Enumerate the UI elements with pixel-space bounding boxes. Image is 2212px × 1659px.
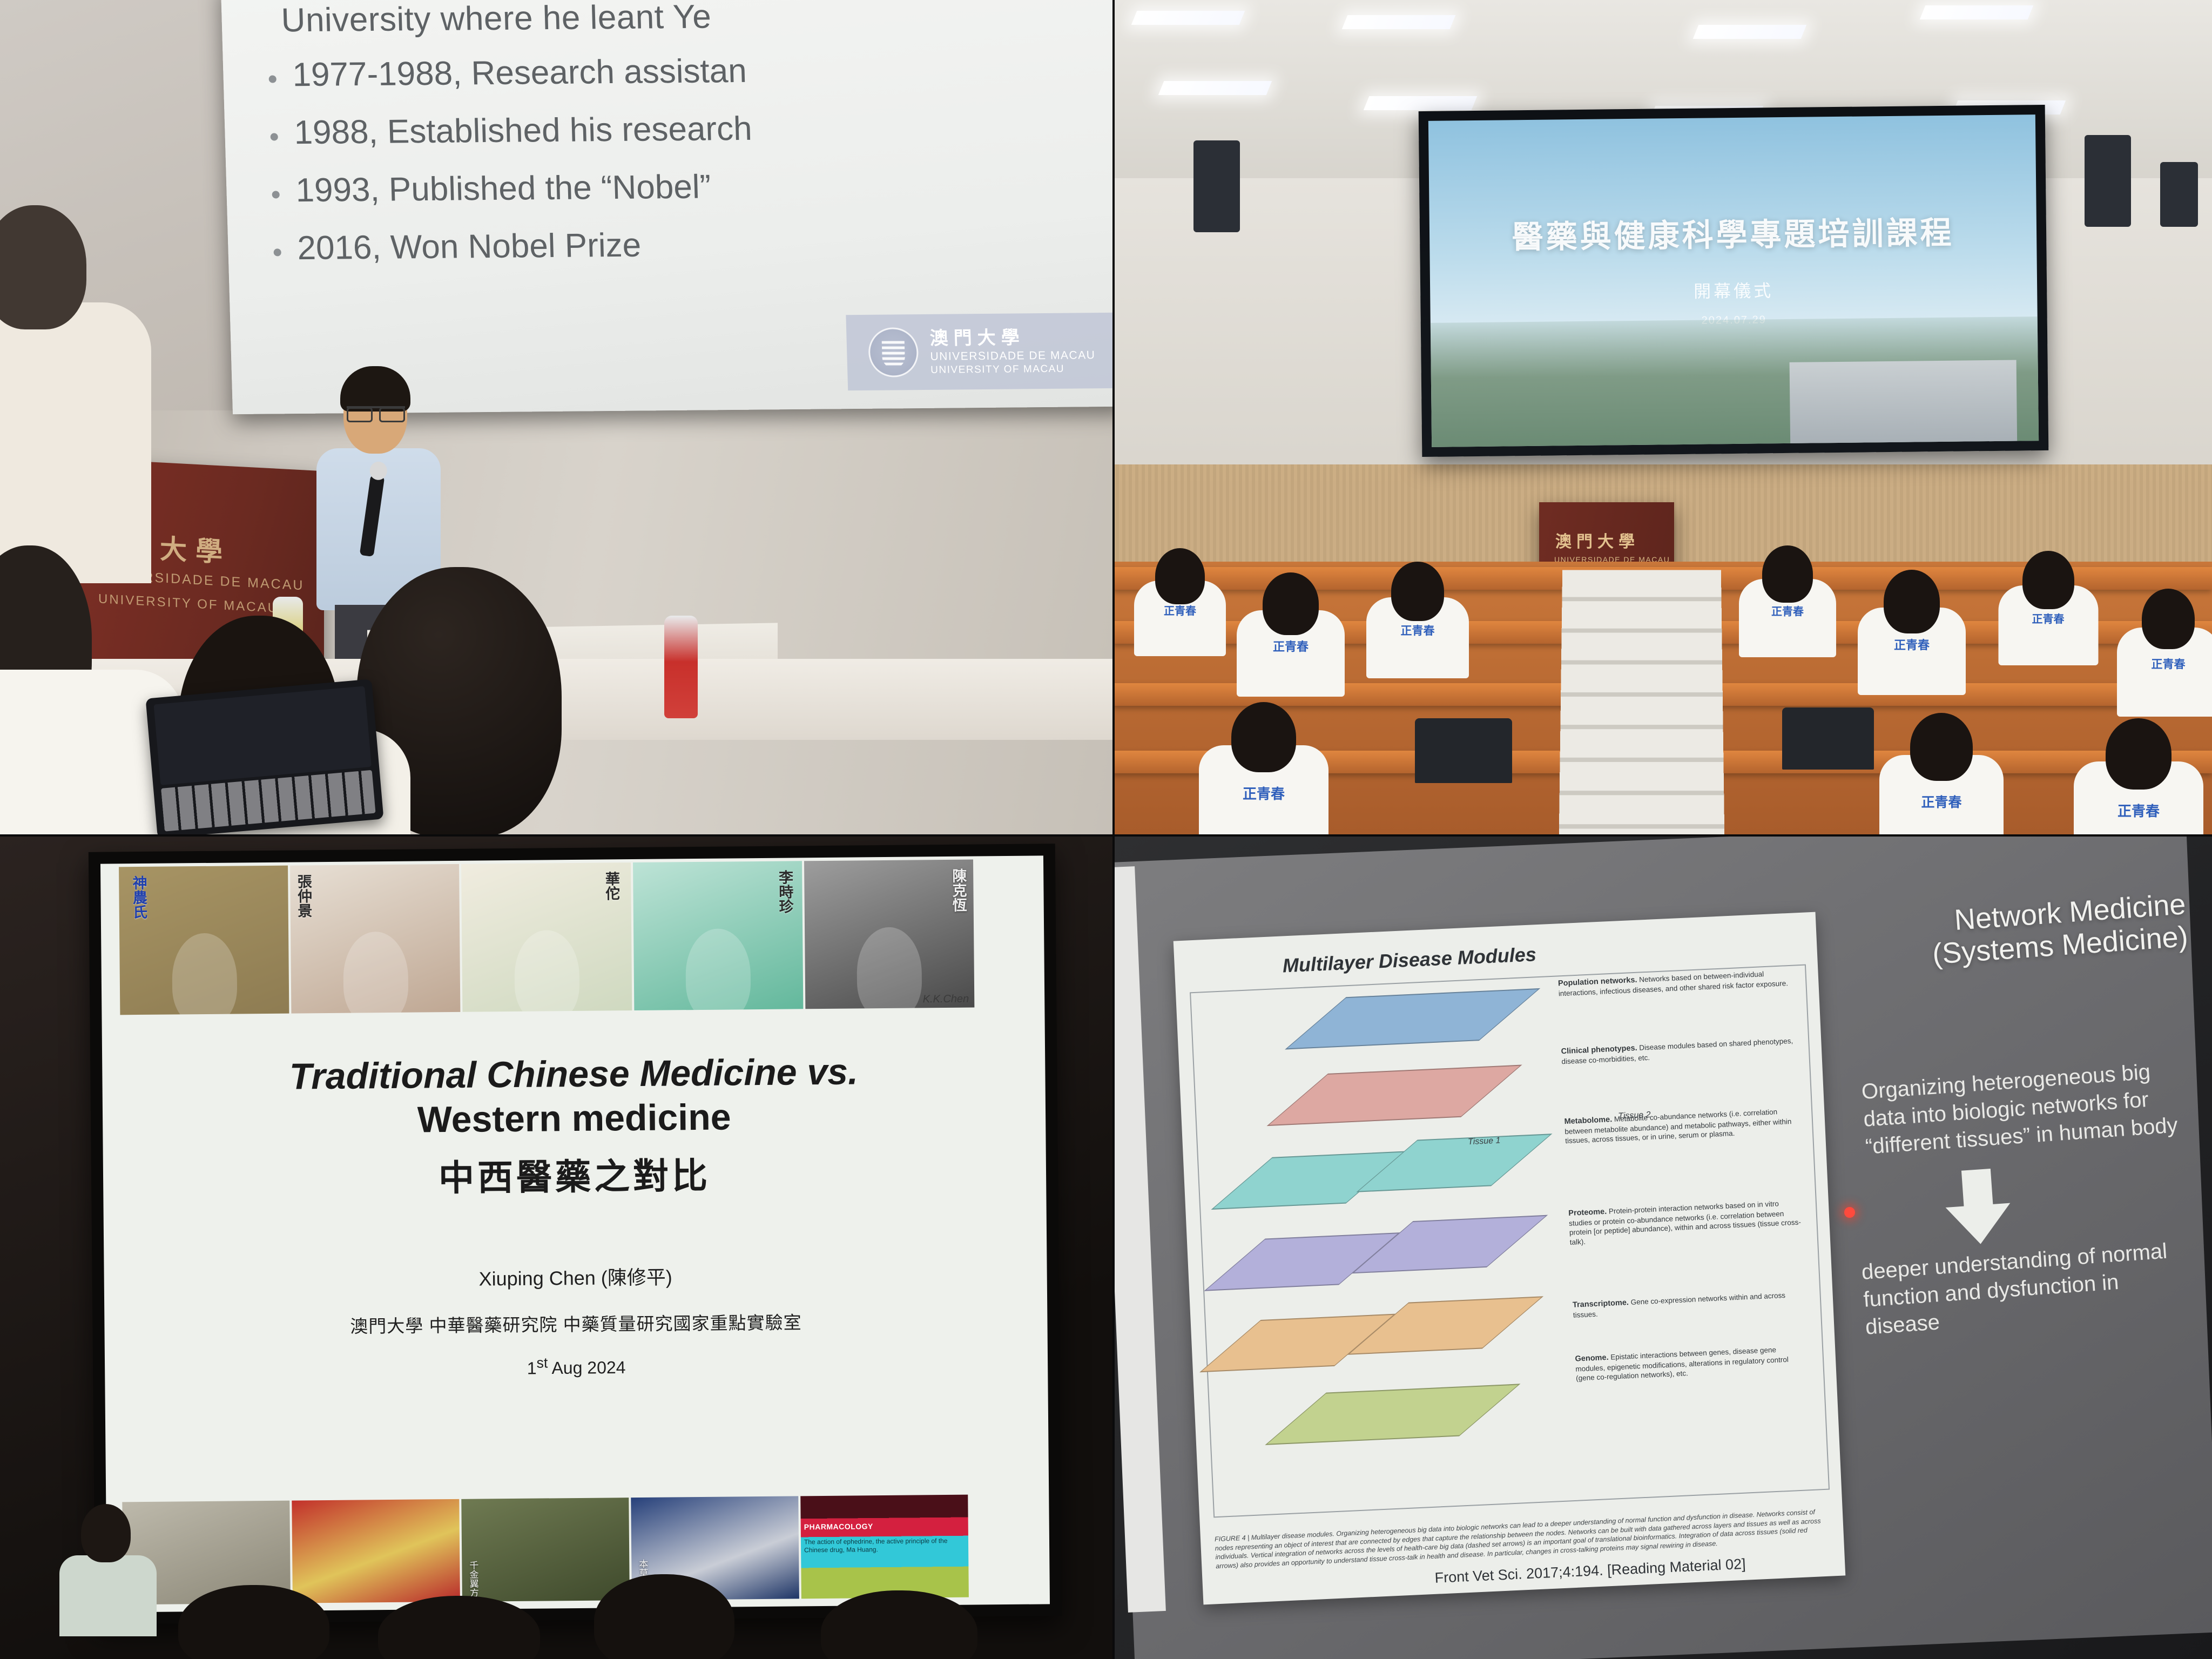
laser-pointer-dot-icon — [1844, 1207, 1855, 1218]
ceiling-speaker-icon — [1193, 140, 1240, 232]
title-line-1: Traditional Chinese Medicine vs. — [289, 1050, 859, 1097]
annotation-term: Proteome. — [1568, 1208, 1607, 1218]
title-vs: vs. — [807, 1051, 858, 1092]
tshirt-text: 正青春 — [1164, 602, 1196, 618]
ceiling-light — [1920, 5, 2034, 19]
tablet-with-keyboard — [145, 679, 383, 834]
student-head — [1231, 702, 1296, 772]
photo-collage: University where he leant Ye 1977-1988, … — [0, 0, 2212, 1659]
ceiling-speaker-icon — [2160, 162, 2198, 227]
annotation-genome: Genome. Epistatic interactions between g… — [1575, 1344, 1808, 1383]
portrait-label: 神農氏 — [131, 875, 146, 919]
student: 正青春 — [1199, 702, 1328, 834]
portrait-label: 張仲景 — [295, 874, 311, 918]
student: 正青春 — [1858, 570, 1966, 697]
projection-screen-bullets: University where he leant Ye 1977-1988, … — [221, 0, 1112, 414]
tshirt-text: 正青春 — [1243, 783, 1285, 803]
layer-clinical-phenotypes — [1267, 1065, 1522, 1127]
tshirt-text: 正青春 — [1273, 637, 1309, 655]
network-medicine-heading: Network Medicine (Systems Medicine) — [1862, 888, 2189, 975]
tablet-screen — [153, 686, 372, 785]
student-head — [1910, 713, 1973, 781]
audience-person-seated — [49, 1504, 162, 1634]
campus-photo-background — [1431, 316, 2039, 447]
glasses-icon — [347, 406, 405, 418]
projection-screen-tcm: 神農氏 張仲景 華佗 李時珍 — [89, 844, 1062, 1624]
student: 正青春 — [1366, 562, 1469, 680]
collage-divider-vertical — [1112, 0, 1115, 1659]
portrait-face — [685, 928, 751, 1010]
um-logo-text: 澳門大學 UNIVERSIDADE DE MACAU UNIVERSITY OF… — [929, 326, 1096, 376]
chair-back — [1415, 718, 1512, 783]
ceiling-light — [1342, 15, 1456, 29]
slide-top-line: University where he leant Ye — [281, 0, 1112, 39]
audience-head — [178, 1585, 329, 1659]
figure-citation: Front Vet Sci. 2017;4:194. [Reading Mate… — [1434, 1556, 1746, 1587]
slide-subtitle: 開幕儀式 — [1694, 277, 1773, 303]
ceiling-light — [1693, 25, 1807, 39]
author-name: Xiuping Chen (陳修平) — [349, 1260, 801, 1292]
network-medicine-body-2: deeper understanding of normal function … — [1860, 1236, 2189, 1341]
slide-bullet: 1988, Established his research — [262, 106, 1112, 152]
annotation-text: Metabolite co-abundance networks (i.e. c… — [1564, 1108, 1792, 1145]
student-head — [1391, 562, 1444, 621]
tissue-1-label: Tissue 1 — [1468, 1136, 1501, 1148]
portrait-signature: K.K.Chen — [923, 993, 969, 1006]
tshirt-text: 正青春 — [2117, 800, 2160, 820]
um-logo-bar: 澳門大學 UNIVERSIDADE DE MACAU UNIVERSITY OF… — [846, 313, 1112, 390]
network-medicine-text-column: Network Medicine (Systems Medicine) Orga… — [1863, 899, 2187, 1330]
podium-label-cn: 澳門大學 — [1555, 528, 1640, 552]
presentation-date: 1st Aug 2024 — [350, 1352, 802, 1380]
date-rest: Aug 2024 — [548, 1358, 625, 1378]
student: 正青春 — [2074, 718, 2203, 834]
layer-genome — [1265, 1384, 1520, 1445]
annotation-metabolome: Metabolome. Metabolite co-abundance netw… — [1564, 1107, 1797, 1146]
portrait-face — [343, 932, 408, 1014]
student: 正青春 — [1134, 548, 1226, 656]
tcm-slide-title: Traditional Chinese Medicine vs. Western… — [289, 1050, 859, 1202]
tshirt-text: 正青春 — [2152, 656, 2186, 672]
book-label: 千金翼方 — [466, 1561, 480, 1597]
person-body — [59, 1555, 157, 1636]
tshirt-text: 正青春 — [2032, 610, 2065, 626]
portrait-zhang-zhongjing: 張仲景 — [290, 864, 461, 1014]
student-head — [1155, 548, 1205, 604]
um-logo-en: UNIVERSITY OF MACAU — [930, 362, 1096, 376]
tcm-slide: 神農氏 張仲景 華佗 李時珍 — [100, 855, 1050, 1612]
student: 正青春 — [1739, 545, 1836, 659]
slide-bullet: 2016, Won Nobel Prize — [266, 222, 1112, 268]
podium-label-en: UNIVERSITY OF MACAU — [98, 591, 279, 616]
layer-population — [1285, 988, 1540, 1050]
tcm-slide-meta: Xiuping Chen (陳修平) 澳門大學 中華醫藥研究院 中藥質量研究國家… — [349, 1260, 802, 1380]
portrait-shennong: 神農氏 — [119, 866, 289, 1015]
title-en-2: Western medicine — [289, 1095, 859, 1142]
portrait-face — [857, 927, 922, 1009]
affiliation: 澳門大學 中華醫藥研究院 中藥質量研究國家重點實驗室 — [350, 1308, 802, 1338]
portrait-hua-tuo: 華佗 — [461, 862, 632, 1012]
portrait-kk-chen: 陳克恆 K.K.Chen — [804, 860, 975, 1009]
multilayer-figure: Multilayer Disease Modules Population ne… — [1174, 912, 1846, 1605]
person-head — [81, 1504, 131, 1562]
student: 正青春 — [1879, 713, 2004, 834]
annotation-term: Transcriptome. — [1573, 1298, 1629, 1310]
student-head — [1762, 545, 1813, 603]
journal-pharmacology-cover: PHARMACOLOGY The action of ephedrine, th… — [800, 1495, 969, 1599]
journal-title: PHARMACOLOGY — [804, 1521, 965, 1532]
chair-back — [1782, 707, 1874, 770]
audience-head — [594, 1574, 734, 1659]
tshirt-text: 正青春 — [1771, 603, 1804, 618]
date-ordinal: st — [536, 1354, 548, 1371]
student: 正青春 — [1237, 572, 1345, 697]
portrait-face — [172, 933, 237, 1015]
slide-bullet-list: 1977-1988, Research assistan 1988, Estab… — [261, 49, 1112, 268]
um-crest-icon — [868, 327, 919, 377]
ceiling-light — [1158, 81, 1272, 95]
panel-speaker-bullet-slide: University where he leant Ye 1977-1988, … — [0, 0, 1112, 834]
figure-plot-area: Population networks. Networks based on b… — [1190, 965, 1830, 1518]
student: 正青春 — [2117, 589, 2212, 718]
panel-tcm-title-slide: 神農氏 張仲景 華佗 李時珍 — [0, 834, 1112, 1659]
portrait-li-shizhen: 李時珍 — [633, 861, 804, 1010]
speaker-hair — [340, 366, 410, 412]
annotation-clinical: Clinical phenotypes. Disease modules bas… — [1561, 1036, 1793, 1067]
annotation-text: Epistatic interactions between genes, di… — [1575, 1346, 1789, 1382]
annotation-transcriptome: Transcriptome. Gene co-expression networ… — [1573, 1290, 1805, 1320]
tshirt-text: 正青春 — [1401, 622, 1435, 638]
annotation-term: Genome. — [1575, 1353, 1609, 1364]
date-day: 1 — [527, 1358, 537, 1378]
slide-bullet: 1977-1988, Research assistan — [261, 49, 1112, 95]
portrait-label: 華佗 — [603, 871, 619, 900]
annotation-text: Protein-protein interaction networks bas… — [1569, 1199, 1801, 1246]
student-head — [1263, 572, 1319, 635]
panel-lecture-hall: 醫藥與健康科學專題培訓課程 開幕儀式 2024.07.29 澳門大學 UNIVE… — [1112, 0, 2212, 834]
network-layers — [1201, 982, 1570, 1521]
tissue-2-label: Tissue 2 — [1618, 1110, 1651, 1122]
opening-ceremony-slide: 醫藥與健康科學專題培訓課程 開幕儀式 2024.07.29 — [1428, 114, 2039, 447]
student-head — [2142, 589, 2195, 649]
ceiling-light — [1131, 11, 1245, 25]
projection-screen-title: 醫藥與健康科學專題培訓課程 開幕儀式 2024.07.29 — [1419, 105, 2049, 457]
ceiling-speaker-icon — [2085, 135, 2131, 227]
tshirt-text: 正青春 — [1894, 636, 1930, 653]
aisle-stairs — [1559, 570, 1725, 834]
slide-title: 醫藥與健康科學專題培訓課程 — [1512, 207, 1954, 258]
panel-network-medicine-slide: Multilayer Disease Modules Population ne… — [1112, 834, 2212, 1659]
journal-article-caption: The action of ephedrine, the active prin… — [804, 1537, 965, 1555]
portrait-face — [514, 930, 579, 1012]
book-qianjinyifang: 千金翼方 — [461, 1498, 630, 1602]
collage-divider-horizontal — [0, 834, 2212, 837]
student-head — [2022, 551, 2074, 609]
student-head — [2106, 718, 2171, 790]
title-en-1: Traditional Chinese Medicine — [289, 1051, 797, 1097]
historical-figures-row: 神農氏 張仲景 華佗 李時珍 — [100, 855, 1044, 1015]
um-logo-pt: UNIVERSIDADE DE MACAU — [930, 349, 1095, 364]
title-cn: 中西醫藥之對比 — [290, 1145, 859, 1202]
slide-bullet: 1993, Published the “Nobel” — [264, 164, 1112, 210]
audience-torso — [0, 302, 151, 583]
annotation-population: Population networks. Networks based on b… — [1558, 968, 1791, 999]
ceiling-light — [1364, 96, 1478, 110]
portrait-label: 陳克恆 — [950, 868, 966, 912]
student: 正青春 — [1998, 551, 2098, 667]
annotation-proteome: Proteome. Protein-protein interaction ne… — [1568, 1198, 1802, 1247]
network-medicine-body-1: Organizing heterogeneous big data into b… — [1860, 1056, 2189, 1161]
book-cover — [292, 1499, 460, 1603]
um-logo-cn: 澳門大學 — [929, 326, 1095, 350]
student-head — [1884, 570, 1940, 633]
annotation-term: Metabolome. — [1564, 1115, 1612, 1126]
drink-bottle — [664, 616, 698, 718]
portrait-label: 李時珍 — [777, 869, 793, 913]
tshirt-text: 正青春 — [1921, 792, 1961, 811]
